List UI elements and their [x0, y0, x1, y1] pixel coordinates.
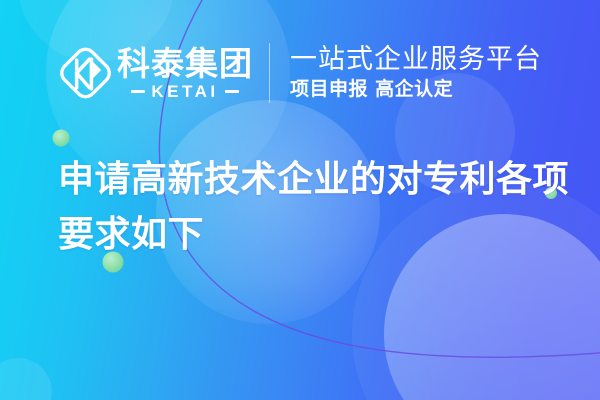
dash-left-icon [131, 90, 145, 93]
brand-wordmark: 科泰集团 KETAI [117, 46, 253, 100]
headline: 申请高新技术企业的对专利各项 要求如下 [58, 152, 558, 262]
brand-name-en: KETAI [151, 83, 218, 100]
dash-right-icon [225, 90, 239, 93]
promo-banner: 科泰集团 KETAI 一站式企业服务平台 项目申报 高企认定 申请高新技术企业的… [0, 0, 600, 400]
header-divider [269, 43, 270, 103]
brand-name-en-row: KETAI [131, 83, 238, 100]
brand-logo: 科泰集团 KETAI [57, 42, 253, 104]
tagline-sub: 项目申报 高企认定 [290, 78, 542, 102]
banner-header: 科泰集团 KETAI 一站式企业服务平台 项目申报 高企认定 [57, 42, 542, 104]
tagline-main: 一站式企业服务平台 [290, 45, 542, 75]
headline-line-2: 要求如下 [58, 207, 558, 262]
headline-line-1: 申请高新技术企业的对专利各项 [58, 152, 558, 207]
brand-name-cn: 科泰集团 [117, 46, 253, 82]
ketai-monogram-icon [57, 42, 114, 104]
tagline-block: 一站式企业服务平台 项目申报 高企认定 [290, 45, 542, 102]
